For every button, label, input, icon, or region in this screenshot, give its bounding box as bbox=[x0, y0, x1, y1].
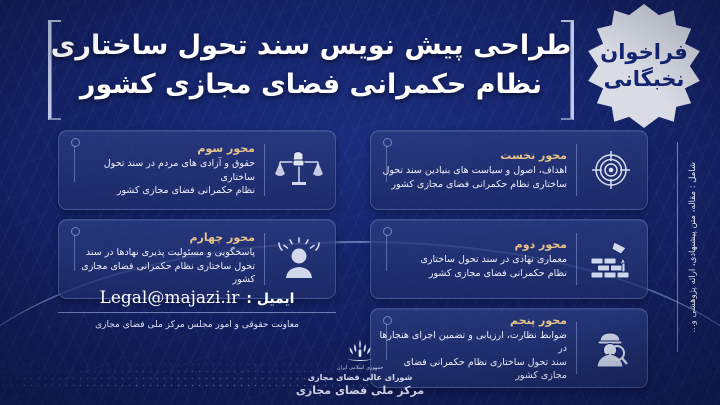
axis-card-column-left: محور سوم حقوق و آزادی های مردم در سند تح… bbox=[58, 130, 336, 299]
organization-name: شورای عالی فضای مجازی مرکز ملی فضای مجاز… bbox=[296, 373, 424, 399]
card-title: محور چهارم bbox=[189, 231, 255, 244]
card-body-line-2: نظام حکمرانی فضای مجازی کشور bbox=[67, 184, 255, 197]
target-icon bbox=[585, 144, 637, 196]
card-pin-icon bbox=[383, 227, 392, 236]
axis-card-third[interactable]: محور سوم حقوق و آزادی های مردم در سند تح… bbox=[58, 130, 336, 210]
org-line-1: شورای عالی فضای مجازی bbox=[296, 373, 424, 384]
card-text-group: محور دوم معماری نهادی در سند تحول ساختار… bbox=[379, 233, 577, 285]
badge-line-2: نخبگانی bbox=[604, 68, 685, 91]
card-text-group: محور نخست اهداف، اصول و سیاست های بنیادی… bbox=[379, 144, 577, 196]
title-line-2: نظام حکمرانی فضای مجازی کشور bbox=[80, 69, 542, 102]
card-body-line-1: پاسخگویی و مسئولیت پذیری نهادها در سند bbox=[67, 246, 255, 259]
justice-scales-icon bbox=[273, 144, 325, 196]
brick-wall-icon bbox=[585, 233, 637, 285]
infographic-poster: طراحی پیش نویس سند تحول ساختاری نظام حکم… bbox=[0, 0, 720, 405]
footer-logo: جمهوری اسلامی ایران شورای عالی فضای مجاز… bbox=[275, 339, 445, 399]
card-body-line-1: حقوق و آزادی های مردم در سند تحول ساختار… bbox=[67, 157, 255, 184]
badge-line-1: فراخوان bbox=[600, 41, 687, 64]
inspector-icon bbox=[585, 322, 637, 374]
card-text-group: محور سوم حقوق و آزادی های مردم در سند تح… bbox=[67, 144, 265, 196]
page-title: طراحی پیش نویس سند تحول ساختاری نظام حکم… bbox=[52, 14, 570, 118]
card-title: محور سوم bbox=[197, 142, 255, 155]
axis-card-second[interactable]: محور دوم معماری نهادی در سند تحول ساختار… bbox=[370, 219, 648, 299]
card-body-line-1: معماری نهادی در سند تحول ساختاری bbox=[379, 253, 567, 266]
email-subtitle: معاونت حقوقی و امور مجلس مرکز ملی فضای م… bbox=[58, 319, 336, 332]
vertical-note-text: شامل : مقاله، متن پیشنهادی، ارائه پژوهشی… bbox=[688, 162, 698, 332]
contact-email-block: ایمیل : Legal@majazi.ir معاونت حقوقی و ا… bbox=[58, 288, 336, 332]
accountability-icon bbox=[273, 233, 325, 285]
card-pin-icon bbox=[71, 227, 80, 236]
emblem-caption: جمهوری اسلامی ایران bbox=[337, 365, 383, 371]
card-body-line-2: تحول ساختاری نظام حکمرانی فضای مجازی کشو… bbox=[67, 260, 255, 287]
card-pin-icon bbox=[71, 138, 80, 147]
card-pin-icon bbox=[383, 316, 392, 325]
email-address[interactable]: Legal@majazi.ir bbox=[100, 288, 240, 308]
title-line-1: طراحی پیش نویس سند تحول ساختاری bbox=[51, 30, 572, 63]
org-line-2: مرکز ملی فضای مجازی bbox=[296, 384, 424, 399]
poster-header: طراحی پیش نویس سند تحول ساختاری نظام حکم… bbox=[52, 14, 570, 118]
email-label: ایمیل : bbox=[246, 291, 294, 307]
vertical-divider bbox=[677, 142, 678, 352]
iran-emblem-icon bbox=[345, 339, 375, 363]
card-body-line-2: ساختاری نظام حکمرانی فضای مجازی کشور bbox=[379, 178, 567, 191]
email-row: ایمیل : Legal@majazi.ir bbox=[58, 288, 336, 313]
axis-card-first[interactable]: محور نخست اهداف، اصول و سیاست های بنیادی… bbox=[370, 130, 648, 210]
card-title: محور پنجم bbox=[510, 314, 567, 327]
axis-card-fourth[interactable]: محور چهارم پاسخگویی و مسئولیت پذیری نهاد… bbox=[58, 219, 336, 299]
card-title: محور نخست bbox=[500, 149, 567, 162]
card-text-group: محور چهارم پاسخگویی و مسئولیت پذیری نهاد… bbox=[67, 233, 265, 285]
card-body-line-2: نظام حکمرانی فضای مجازی کشور bbox=[379, 267, 567, 280]
card-pin-icon bbox=[383, 138, 392, 147]
submission-types-note: شامل : مقاله، متن پیشنهادی، ارائه پژوهشی… bbox=[688, 142, 698, 352]
card-title: محور دوم bbox=[515, 238, 567, 251]
card-body-line-1: اهداف، اصول و سیاست های بنیادین سند تحول bbox=[379, 164, 567, 177]
